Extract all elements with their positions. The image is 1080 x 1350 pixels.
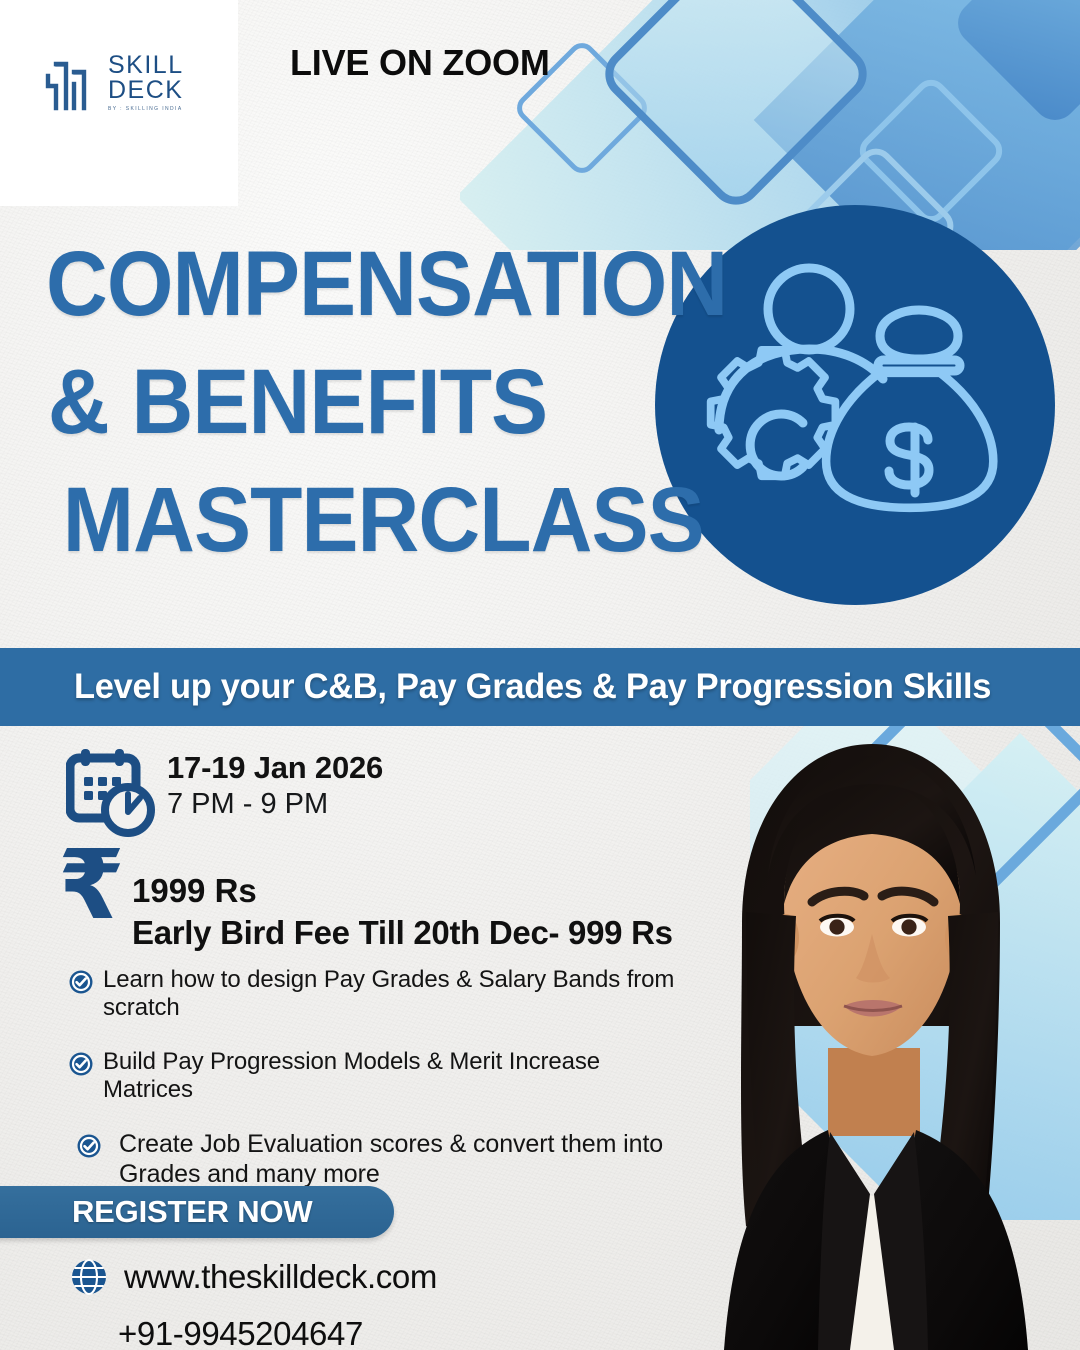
brand-wordmark: SKILL DECK BY : SKILLING INDIA — [108, 54, 184, 112]
list-item-label: Build Pay Progression Models & Merit Inc… — [103, 1048, 680, 1104]
regular-fee: 1999 Rs — [132, 872, 257, 910]
check-circle-icon — [76, 1133, 102, 1159]
event-time: 7 PM - 9 PM — [167, 788, 328, 821]
title-line-1: COMPENSATION — [46, 226, 727, 344]
register-now-label: REGISTER NOW — [72, 1194, 312, 1230]
website-label: www.theskilldeck.com — [124, 1258, 437, 1296]
fees-row: ₹ 1999 Rs Early Bird Fee Till 20th Dec- … — [0, 836, 700, 954]
subtitle-band: Level up your C&B, Pay Grades & Pay Prog… — [0, 648, 1080, 726]
website-link[interactable]: www.theskilldeck.com — [68, 1256, 437, 1298]
register-now-button[interactable]: REGISTER NOW — [0, 1186, 394, 1238]
schedule-row: 17-19 Jan 2026 7 PM - 9 PM — [0, 726, 700, 836]
list-item-label: Learn how to design Pay Grades & Salary … — [103, 966, 680, 1022]
check-circle-icon — [68, 1051, 94, 1077]
event-dates: 17-19 Jan 2026 — [167, 750, 383, 786]
list-item: Create Job Evaluation scores & convert t… — [0, 1130, 700, 1189]
phone-number[interactable]: +91-9945204647 — [118, 1315, 363, 1350]
skilldeck-logo-mark-icon — [34, 52, 96, 114]
speaker-portrait-illustration — [650, 726, 1080, 1350]
brand-logo[interactable]: SKILL DECK BY : SKILLING INDIA — [34, 52, 184, 114]
brand-name-line1: SKILL — [108, 54, 184, 77]
speaker-portrait — [650, 726, 1080, 1350]
brand-name-line2: DECK — [108, 79, 184, 102]
list-item-label: Create Job Evaluation scores & convert t… — [119, 1130, 680, 1189]
globe-icon — [68, 1256, 110, 1298]
compensation-benefits-icon — [703, 257, 1007, 557]
list-item: Build Pay Progression Models & Merit Inc… — [0, 1048, 700, 1104]
list-item: Learn how to design Pay Grades & Salary … — [0, 966, 700, 1022]
subtitle-text: Level up your C&B, Pay Grades & Pay Prog… — [74, 667, 991, 707]
logo-block: SKILL DECK BY : SKILLING INDIA — [0, 0, 238, 206]
brand-tagline: BY : SKILLING INDIA — [108, 107, 184, 112]
calendar-clock-icon — [66, 748, 166, 840]
live-badge: LIVE ON ZOOM — [290, 42, 550, 84]
title-line-2: & BENEFITS — [46, 344, 727, 462]
title-line-3: MASTERCLASS — [46, 462, 727, 580]
check-circle-icon — [68, 969, 94, 995]
highlights-list: Learn how to design Pay Grades & Salary … — [0, 966, 700, 1189]
early-bird-fee: Early Bird Fee Till 20th Dec- 999 Rs — [132, 914, 673, 952]
poster-canvas: SKILL DECK BY : SKILLING INDIA LIVE ON Z… — [0, 0, 1080, 1350]
page-title: COMPENSATION & BENEFITS MASTERCLASS — [46, 226, 727, 579]
details-section: 17-19 Jan 2026 7 PM - 9 PM ₹ 1999 Rs Ear… — [0, 726, 700, 1215]
rupee-icon: ₹ — [58, 842, 125, 928]
